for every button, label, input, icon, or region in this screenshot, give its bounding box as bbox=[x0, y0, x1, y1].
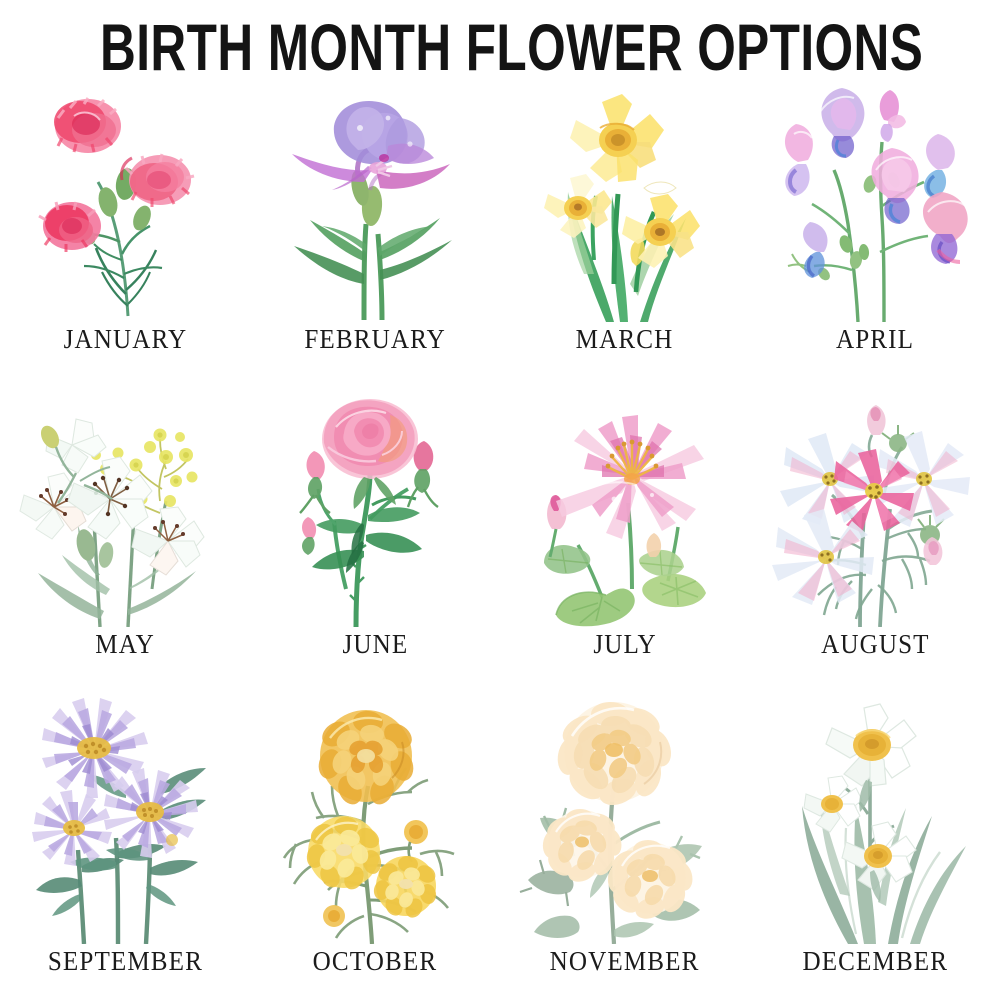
month-label-december: DECEMBER bbox=[802, 946, 948, 976]
carnation-flower-icon bbox=[10, 84, 240, 322]
month-label-april: APRIL bbox=[836, 324, 914, 354]
flower-grid: JANUARY bbox=[0, 84, 1000, 1000]
month-label-september: SEPTEMBER bbox=[47, 946, 202, 976]
month-label-october: OCTOBER bbox=[313, 946, 438, 976]
month-label-july: JULY bbox=[593, 629, 656, 659]
rose-flower-icon bbox=[260, 389, 490, 627]
chrysanthemum-flower-icon bbox=[510, 694, 740, 944]
cosmos-flower-icon bbox=[760, 389, 990, 627]
month-label-january: JANUARY bbox=[63, 324, 187, 354]
flower-cell-january[interactable]: JANUARY bbox=[0, 84, 250, 389]
sweet-pea-flower-icon bbox=[760, 84, 990, 322]
flower-cell-october[interactable]: OCTOBER bbox=[250, 694, 500, 999]
flower-cell-june[interactable]: JUNE bbox=[250, 389, 500, 694]
page-title: BIRTH MONTH FLOWER OPTIONS bbox=[100, 16, 900, 82]
flower-cell-december[interactable]: DECEMBER bbox=[750, 694, 1000, 999]
flower-cell-may[interactable]: MAY bbox=[0, 389, 250, 694]
flower-cell-july[interactable]: JULY bbox=[500, 389, 750, 694]
white-lily-flower-icon bbox=[10, 389, 240, 627]
month-label-march: MARCH bbox=[576, 324, 674, 354]
iris-flower-icon bbox=[260, 84, 490, 322]
daffodil-flower-icon bbox=[510, 84, 740, 322]
flower-cell-march[interactable]: MARCH bbox=[500, 84, 750, 389]
narcissus-flower-icon bbox=[760, 694, 990, 944]
flower-cell-february[interactable]: FEBRUARY bbox=[250, 84, 500, 389]
flower-cell-november[interactable]: NOVEMBER bbox=[500, 694, 750, 999]
month-label-august: AUGUST bbox=[821, 629, 930, 659]
flower-cell-august[interactable]: AUGUST bbox=[750, 389, 1000, 694]
month-label-february: FEBRUARY bbox=[304, 324, 446, 354]
flower-cell-april[interactable]: APRIL bbox=[750, 84, 1000, 389]
month-label-may: MAY bbox=[95, 629, 155, 659]
marigold-flower-icon bbox=[260, 694, 490, 944]
month-label-november: NOVEMBER bbox=[550, 946, 700, 976]
flower-cell-september[interactable]: SEPTEMBER bbox=[0, 694, 250, 999]
aster-flower-icon bbox=[10, 694, 240, 944]
water-lily-flower-icon bbox=[510, 389, 740, 627]
poster-canvas: BIRTH MONTH FLOWER OPTIONS bbox=[0, 0, 1000, 1000]
month-label-june: JUNE bbox=[342, 629, 408, 659]
